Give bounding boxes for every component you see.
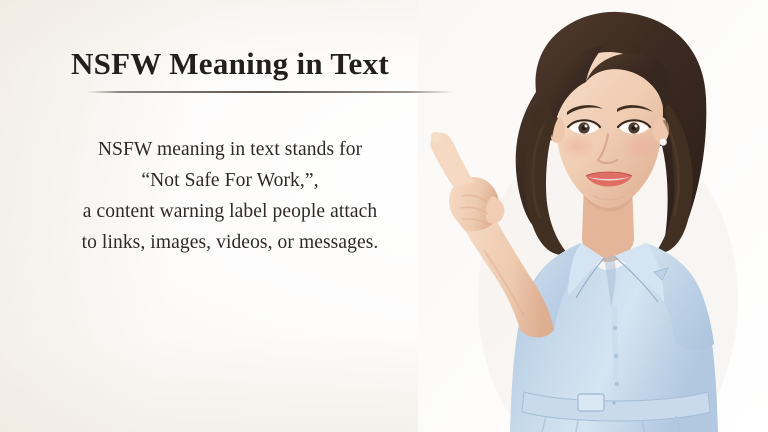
body-line-2: “Not Safe For Work,”, [0,165,460,196]
body-line-4: to links, images, videos, or messages. [0,227,460,258]
image-canvas: NSFW Meaning in Text NSFW meaning in tex… [0,0,768,432]
text-column: NSFW Meaning in Text NSFW meaning in tex… [0,0,460,432]
body-line-3: a content warning label people attach [0,196,460,227]
woman-pointing-photo [418,0,768,432]
body-line-1: NSFW meaning in text stands for [0,134,460,165]
body-paragraph: NSFW meaning in text stands for “Not Saf… [0,134,460,258]
title-divider-rule [86,91,454,93]
page-title: NSFW Meaning in Text [0,46,460,82]
